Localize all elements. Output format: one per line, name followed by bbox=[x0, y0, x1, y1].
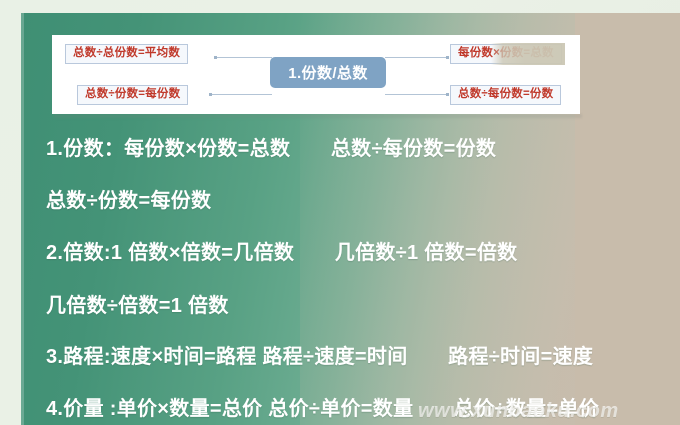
connector-dot-bottom-left bbox=[209, 93, 212, 96]
connector-dot-top-left bbox=[214, 56, 217, 59]
connector-line-bottom-left bbox=[212, 94, 272, 95]
slide-left-seam bbox=[21, 13, 24, 425]
watermark-text: www.xunbaoku.com bbox=[418, 400, 619, 423]
mindmap-panel: 总数÷总份数=平均数 总数÷份数=每份数 每份数×份数=总数 总数÷每份数=份数… bbox=[52, 35, 580, 114]
mindmap-node-top-left-label: 总数÷总份数=平均数 bbox=[73, 48, 180, 60]
mindmap-node-top-right: 每份数×份数=总数 bbox=[450, 44, 562, 64]
connector-dot-bottom-right bbox=[446, 93, 449, 96]
connector-line-bottom-right bbox=[385, 94, 449, 95]
mindmap-node-top-right-label: 每份数×份数=总数 bbox=[458, 48, 554, 60]
connector-line-top-right bbox=[385, 57, 449, 58]
mindmap-node-bottom-left: 总数÷份数=每份数 bbox=[77, 85, 188, 105]
slide-canvas: 总数÷总份数=平均数 总数÷份数=每份数 每份数×份数=总数 总数÷每份数=份数… bbox=[0, 0, 680, 425]
mindmap-center-node: 1.份数/总数 bbox=[270, 57, 386, 88]
connector-dot-top-right bbox=[446, 56, 449, 59]
mindmap-center-node-label: 1.份数/总数 bbox=[288, 62, 367, 83]
connector-line-top-left bbox=[217, 57, 272, 58]
mindmap-node-bottom-right: 总数÷每份数=份数 bbox=[450, 85, 561, 105]
formula-line: 总数÷份数=每份数 bbox=[46, 184, 211, 213]
mindmap-node-bottom-right-label: 总数÷每份数=份数 bbox=[458, 89, 553, 101]
formula-line: 2.倍数:1 倍数×倍数=几倍数 几倍数÷1 倍数=倍数 bbox=[46, 236, 517, 265]
mindmap-node-bottom-left-label: 总数÷份数=每份数 bbox=[85, 89, 180, 101]
formula-line: 3.路程:速度×时间=路程 路程÷速度=时间 路程÷时间=速度 bbox=[46, 340, 593, 369]
formula-line: 1.份数：每份数×份数=总数 总数÷每份数=份数 bbox=[46, 132, 496, 161]
formula-line: 几倍数÷倍数=1 倍数 bbox=[46, 289, 229, 318]
mindmap-panel-shadow bbox=[54, 114, 582, 118]
mindmap-node-top-left: 总数÷总份数=平均数 bbox=[65, 44, 188, 64]
